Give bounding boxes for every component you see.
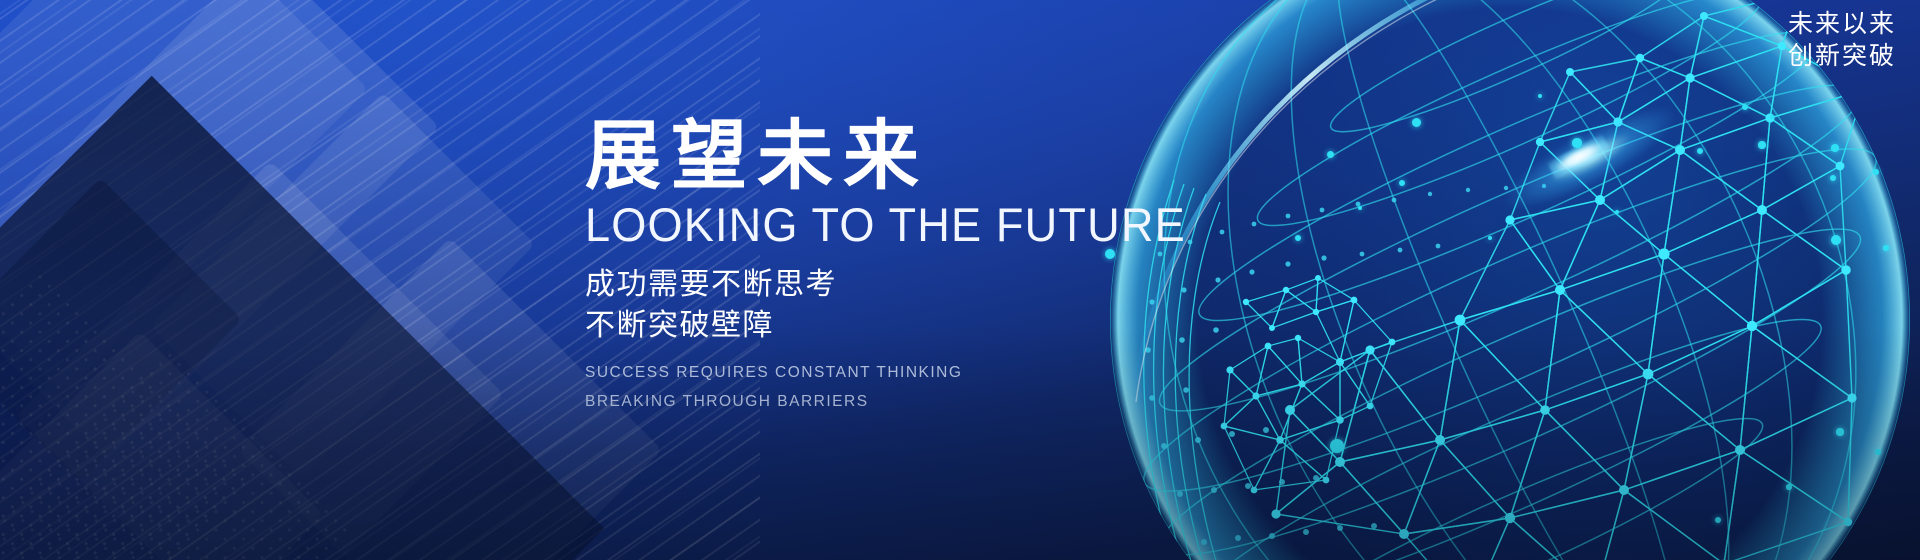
- corner-slogan-line-1: 未来以来: [1788, 8, 1896, 40]
- particle-dot: [1883, 245, 1889, 251]
- corner-slogan-line-2: 创新突破: [1788, 40, 1896, 72]
- particle-dot: [1572, 138, 1581, 147]
- particle-dot: [1488, 236, 1492, 240]
- dot-grid-pattern-icon: [0, 268, 252, 560]
- particle-dot: [1875, 449, 1881, 455]
- particle-dot: [1327, 151, 1334, 158]
- particle-dot: [1538, 94, 1543, 99]
- hero-banner: 展望未来 LOOKING TO THE FUTURE 成功需要不断思考 不断突破…: [0, 0, 1920, 560]
- particle-dot: [1770, 115, 1774, 119]
- particle-dot: [1697, 148, 1704, 155]
- decor-rect-6: [0, 178, 242, 482]
- decor-rect-3: [150, 92, 535, 477]
- decor-rect-2: [0, 0, 440, 460]
- dot-grid-pattern-secondary-icon: [0, 346, 354, 560]
- decor-rect-4: [16, 161, 504, 560]
- tagline-en-line-2: BREAKING THROUGH BARRIERS: [585, 388, 1225, 415]
- decor-dark-corner: [0, 76, 604, 560]
- tagline-cn-line-2: 不断突破壁障: [585, 306, 1225, 347]
- particle-dot: [1615, 210, 1620, 215]
- particle-dot: [1836, 428, 1843, 435]
- decor-rect-7: [0, 331, 324, 560]
- tagline-cn-line-1: 成功需要不断思考: [585, 265, 1225, 306]
- particle-dot: [1358, 206, 1362, 210]
- particle-dot: [1399, 180, 1405, 186]
- decor-rect-1: [0, 0, 368, 393]
- tagline-en-line-1: SUCCESS REQUIRES CONSTANT THINKING: [585, 359, 1225, 386]
- page-subtitle-en: LOOKING TO THE FUTURE: [585, 200, 1199, 250]
- particle-dot: [1786, 484, 1791, 489]
- particle-dot: [1330, 439, 1344, 453]
- particle-dot: [1873, 169, 1879, 175]
- particle-dot: [1831, 144, 1839, 152]
- particle-dot: [1412, 118, 1421, 127]
- particle-dot: [1758, 141, 1765, 148]
- headline-block: 展望未来 LOOKING TO THE FUTURE 成功需要不断思考 不断突破…: [585, 118, 1225, 415]
- particle-dot: [1742, 104, 1748, 110]
- lens-flare-icon: [1494, 91, 1685, 224]
- particle-dot: [1295, 235, 1301, 241]
- particle-dot: [1831, 235, 1842, 246]
- particle-dot: [1830, 175, 1836, 181]
- particle-dot: [1715, 517, 1721, 523]
- corner-slogan: 未来以来 创新突破: [1788, 8, 1896, 72]
- page-title: 展望未来: [585, 118, 1225, 196]
